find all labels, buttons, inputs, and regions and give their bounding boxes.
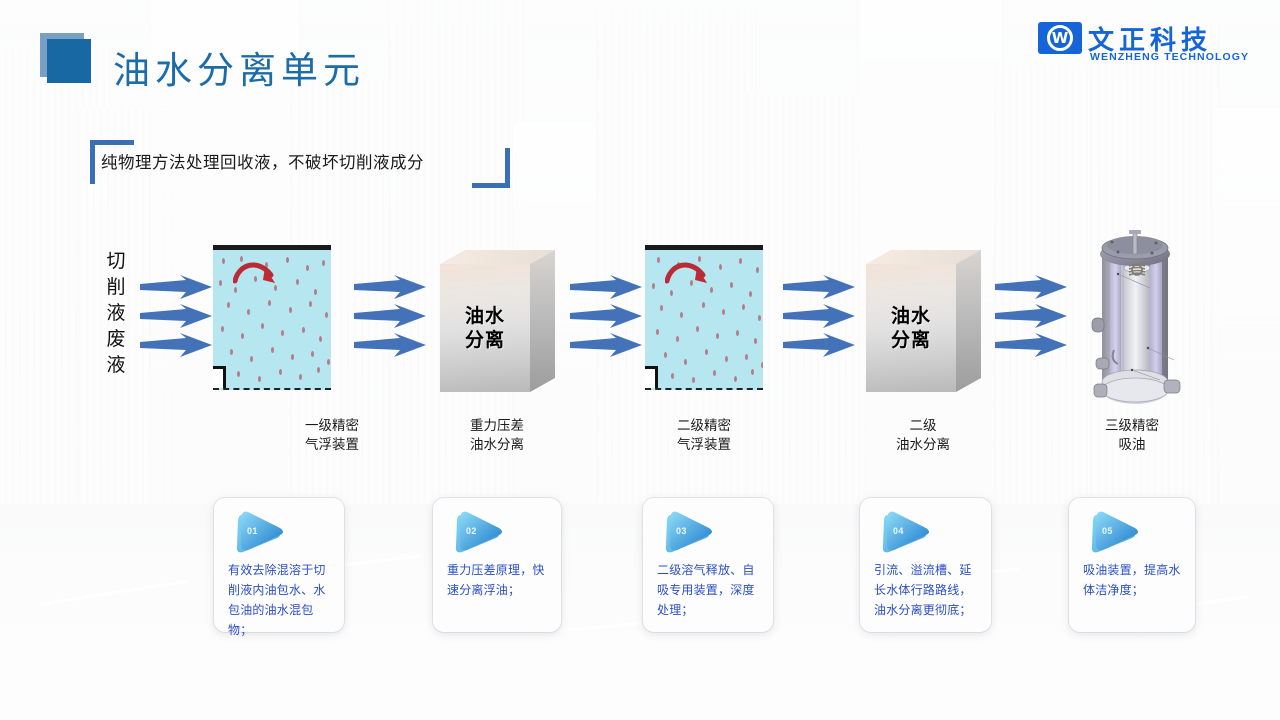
stage-caption-3: 二级精密 气浮装置 xyxy=(624,417,784,455)
cube-label-2: 油水 分离 xyxy=(891,304,931,352)
title-square-front xyxy=(47,39,91,83)
bracket-top-left-horizontal xyxy=(90,140,134,145)
feature-card-01[interactable]: 01 有效去除混溶于切削液内油包水、水包油的油水混包物； xyxy=(214,498,344,632)
stage-separation-cube-1: 油水 分离 xyxy=(440,250,555,392)
feature-card-02[interactable]: 02 重力压差原理，快速分离浮油； xyxy=(433,498,561,632)
flow-arrows-1 xyxy=(140,275,212,365)
flow-arrows-3 xyxy=(570,275,642,365)
page-title: 油水分离单元 xyxy=(113,40,365,94)
card-text-05: 吸油装置，提高水体洁净度； xyxy=(1083,560,1184,600)
card-text-02: 重力压差原理，快速分离浮油； xyxy=(447,560,550,600)
card-number-05: 05 xyxy=(1102,526,1113,536)
caption-line-2: 油水分离 xyxy=(417,436,577,455)
stage-caption-1: 一级精密 气浮装置 xyxy=(252,417,412,455)
caption-line-1: 一级精密 xyxy=(252,417,412,436)
bracket-bottom-right-vertical xyxy=(505,148,510,188)
tank-flow-arc-2 xyxy=(665,257,711,285)
caption-line-1: 二级精密 xyxy=(624,417,784,436)
subtitle-text: 纯物理方法处理回收液，不破坏切削液成分 xyxy=(101,149,424,173)
cube-label-1: 油水 分离 xyxy=(465,304,505,352)
logo-monogram: W xyxy=(1047,25,1073,51)
feature-card-03[interactable]: 03 二级溶气释放、自吸专用装置，深度处理； xyxy=(643,498,773,632)
play-badge-icon-03: 03 xyxy=(665,510,717,554)
stage-caption-4: 二级 油水分离 xyxy=(843,417,1003,455)
stage-flotation-tank-1 xyxy=(213,245,331,390)
tank-flow-arc-1 xyxy=(233,257,279,285)
card-number-03: 03 xyxy=(676,526,687,536)
oil-absorber-vessel-icon xyxy=(1088,230,1184,408)
feature-card-05[interactable]: 05 吸油装置，提高水体洁净度； xyxy=(1069,498,1195,632)
flow-arrows-2 xyxy=(354,275,426,365)
caption-line-1: 重力压差 xyxy=(417,417,577,436)
stage-flotation-tank-2 xyxy=(645,245,763,390)
cube-side-face-1 xyxy=(530,250,555,392)
play-badge-icon-05: 05 xyxy=(1091,510,1143,554)
flow-arrows-4 xyxy=(783,275,855,365)
slide-content: 油水分离单元 W 文正科技 WENZHENG TECHNOLOGY 纯物理方法处… xyxy=(0,0,1280,720)
stage-caption-5: 三级精密 吸油 xyxy=(1052,417,1212,455)
caption-line-1: 二级 xyxy=(843,417,1003,436)
card-text-04: 引流、溢流槽、延长水体行路路线，油水分离更彻底； xyxy=(874,560,980,620)
stage-caption-2: 重力压差 油水分离 xyxy=(417,417,577,455)
card-text-01: 有效去除混溶于切削液内油包水、水包油的油水混包物； xyxy=(228,560,333,640)
subtitle-bracket: 纯物理方法处理回收液，不破坏切削液成分 xyxy=(90,140,510,188)
card-number-04: 04 xyxy=(893,526,904,536)
tank-outlet-notch-1 xyxy=(213,366,226,388)
inlet-label: 切削液废液 xyxy=(103,248,129,378)
caption-line-2: 油水分离 xyxy=(843,436,1003,455)
logo-company-name-en: WENZHENG TECHNOLOGY xyxy=(1090,51,1249,63)
company-logo: W 文正科技 WENZHENG TECHNOLOGY xyxy=(1038,20,1258,70)
play-badge-icon-04: 04 xyxy=(882,510,934,554)
cube-front-face-2: 油水 分离 xyxy=(866,264,956,392)
tank-outlet-notch-2 xyxy=(645,366,658,388)
caption-line-2: 气浮装置 xyxy=(624,436,784,455)
process-flow-diagram: 切削液废液 xyxy=(0,235,1280,465)
play-badge-icon-01: 01 xyxy=(236,510,288,554)
logo-mark-icon: W xyxy=(1038,22,1082,54)
caption-line-1: 三级精密 xyxy=(1052,417,1212,436)
card-text-03: 二级溶气释放、自吸专用装置，深度处理； xyxy=(657,560,762,620)
card-number-02: 02 xyxy=(466,526,477,536)
feature-card-04[interactable]: 04 引流、溢流槽、延长水体行路路线，油水分离更彻底； xyxy=(860,498,991,632)
cube-label-line-1: 油水 xyxy=(891,304,931,328)
caption-line-2: 吸油 xyxy=(1052,436,1212,455)
flow-arrows-5 xyxy=(995,275,1067,365)
play-badge-icon-02: 02 xyxy=(455,510,507,554)
caption-line-2: 气浮装置 xyxy=(252,436,412,455)
cube-label-line-1: 油水 xyxy=(465,304,505,328)
card-number-01: 01 xyxy=(247,526,258,536)
stage-equipment-vessel xyxy=(1088,230,1184,408)
stage-separation-cube-2: 油水 分离 xyxy=(866,250,981,392)
feature-card-list: 01 有效去除混溶于切削液内油包水、水包油的油水混包物； 02 重力压差原理，快… xyxy=(0,498,1280,638)
cube-side-face-2 xyxy=(956,250,981,392)
cube-front-face-1: 油水 分离 xyxy=(440,264,530,392)
cube-label-line-2: 分离 xyxy=(891,328,931,352)
cube-label-line-2: 分离 xyxy=(465,328,505,352)
bracket-top-left-vertical xyxy=(90,140,95,184)
